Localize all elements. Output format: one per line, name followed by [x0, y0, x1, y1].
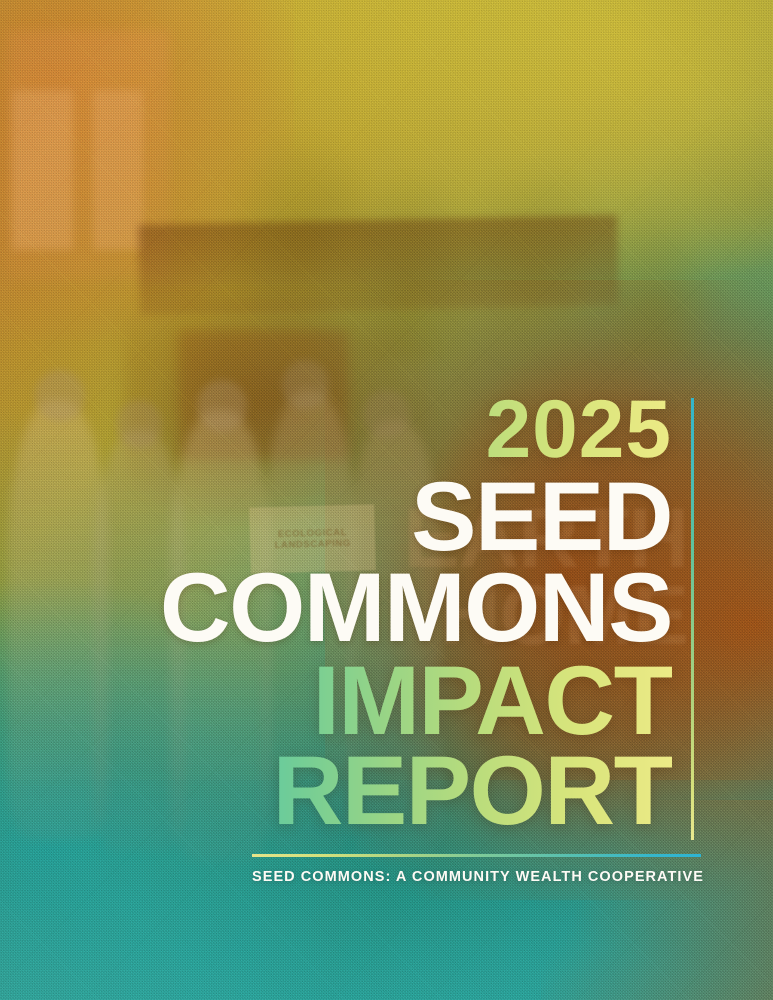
report-cover: ECOLOGICAL LANDSCAPING EARTH HOME 2025 S…: [0, 0, 773, 1000]
cover-title-block: 2025 SEED COMMONS IMPACT REPORT: [0, 392, 672, 835]
cover-tagline: SEED COMMONS: A COMMUNITY WEALTH COOPERA…: [252, 869, 701, 885]
title-line-commons: COMMONS: [0, 562, 672, 652]
horizontal-accent-rule: [252, 854, 701, 857]
title-line-seed: SEED: [0, 471, 672, 561]
title-line-report: REPORT: [0, 745, 672, 835]
vertical-accent-rule: [691, 398, 694, 840]
title-line-year: 2025: [0, 392, 672, 467]
orange-flare-top-left: [0, 0, 294, 340]
title-line-impact: IMPACT: [0, 655, 672, 745]
